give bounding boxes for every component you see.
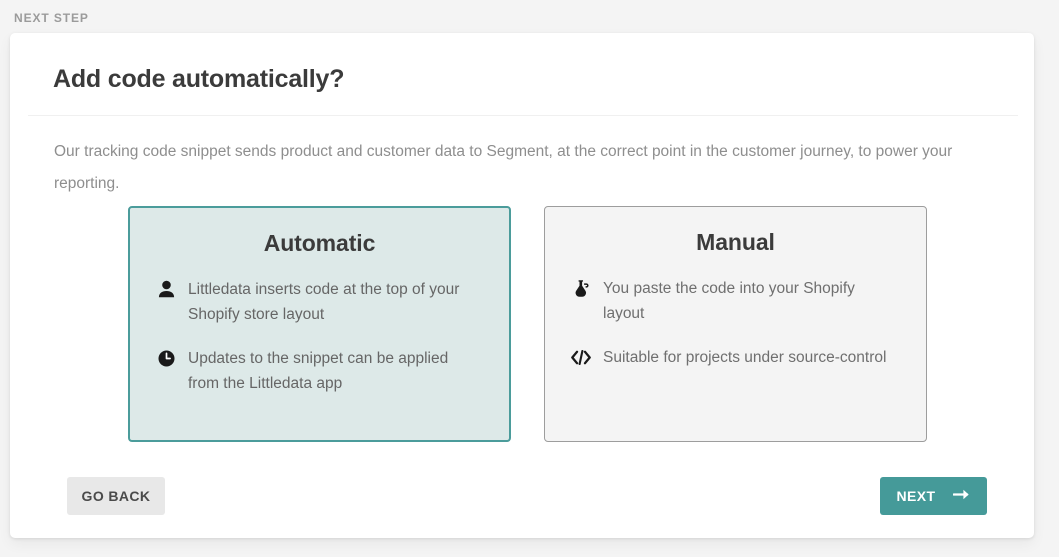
arrow-right-icon [953, 488, 970, 504]
header-divider [28, 115, 1018, 116]
option-title-automatic: Automatic [156, 230, 483, 257]
wizard-description: Our tracking code snippet sends product … [54, 136, 969, 200]
list-item: Updates to the snippet can be applied fr… [156, 346, 483, 396]
feature-text: Suitable for projects under source-contr… [603, 345, 886, 370]
list-item: Littledata inserts code at the top of yo… [156, 277, 483, 327]
go-back-button[interactable]: GO BACK [67, 477, 165, 515]
option-card-manual[interactable]: Manual You paste the code into your Shop… [544, 206, 927, 442]
option-card-group: Automatic Littledata inserts code at the… [128, 206, 927, 442]
feature-text: Updates to the snippet can be applied fr… [188, 346, 483, 396]
feature-text: Littledata inserts code at the top of yo… [188, 277, 483, 327]
flask-icon [571, 276, 591, 298]
step-eyebrow-label: NEXT STEP [14, 11, 89, 25]
list-item: You paste the code into your Shopify lay… [571, 276, 900, 326]
option-card-automatic[interactable]: Automatic Littledata inserts code at the… [128, 206, 511, 442]
wizard-card: Add code automatically? Our tracking cod… [10, 33, 1034, 538]
feature-text: You paste the code into your Shopify lay… [603, 276, 900, 326]
next-button-label: NEXT [897, 488, 936, 504]
list-item: Suitable for projects under source-contr… [571, 345, 900, 370]
page-title: Add code automatically? [53, 65, 344, 94]
clock-icon [156, 346, 176, 368]
code-icon [571, 345, 591, 367]
option-title-manual: Manual [571, 229, 900, 256]
user-icon [156, 277, 176, 299]
next-button[interactable]: NEXT [880, 477, 987, 515]
feature-list-automatic: Littledata inserts code at the top of yo… [156, 277, 483, 396]
wizard-page: NEXT STEP Add code automatically? Our tr… [0, 0, 1059, 557]
feature-list-manual: You paste the code into your Shopify lay… [571, 276, 900, 370]
